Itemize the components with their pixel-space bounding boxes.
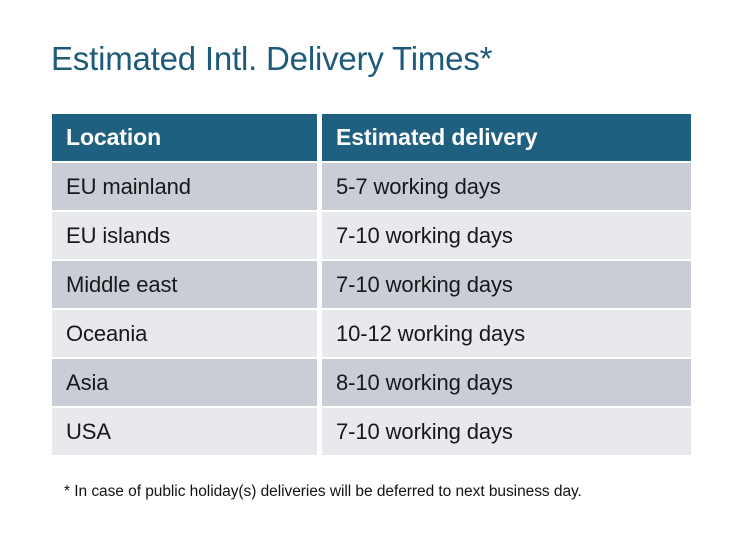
delivery-times-table: Location Estimated delivery EU mainland … — [52, 114, 691, 455]
table-row: Middle east 7-10 working days — [52, 261, 691, 308]
cell-estimated-delivery: 10-12 working days — [322, 310, 691, 357]
cell-location: Oceania — [52, 310, 317, 357]
cell-estimated-delivery: 7-10 working days — [322, 408, 691, 455]
cell-location: EU islands — [52, 212, 317, 259]
cell-estimated-delivery: 8-10 working days — [322, 359, 691, 406]
column-header-location: Location — [52, 114, 317, 161]
table-header-row: Location Estimated delivery — [52, 114, 691, 161]
cell-estimated-delivery: 7-10 working days — [322, 261, 691, 308]
cell-estimated-delivery: 5-7 working days — [322, 163, 691, 210]
page-title: Estimated Intl. Delivery Times* — [51, 38, 492, 80]
table-row: USA 7-10 working days — [52, 408, 691, 455]
cell-location: EU mainland — [52, 163, 317, 210]
table-row: EU islands 7-10 working days — [52, 212, 691, 259]
footnote: * In case of public holiday(s) deliverie… — [64, 482, 582, 502]
table-row: Asia 8-10 working days — [52, 359, 691, 406]
column-header-estimated-delivery: Estimated delivery — [322, 114, 691, 161]
cell-location: USA — [52, 408, 317, 455]
delivery-times-page: Estimated Intl. Delivery Times* Location… — [0, 0, 745, 536]
table-row: EU mainland 5-7 working days — [52, 163, 691, 210]
cell-location: Middle east — [52, 261, 317, 308]
cell-estimated-delivery: 7-10 working days — [322, 212, 691, 259]
table-row: Oceania 10-12 working days — [52, 310, 691, 357]
cell-location: Asia — [52, 359, 317, 406]
